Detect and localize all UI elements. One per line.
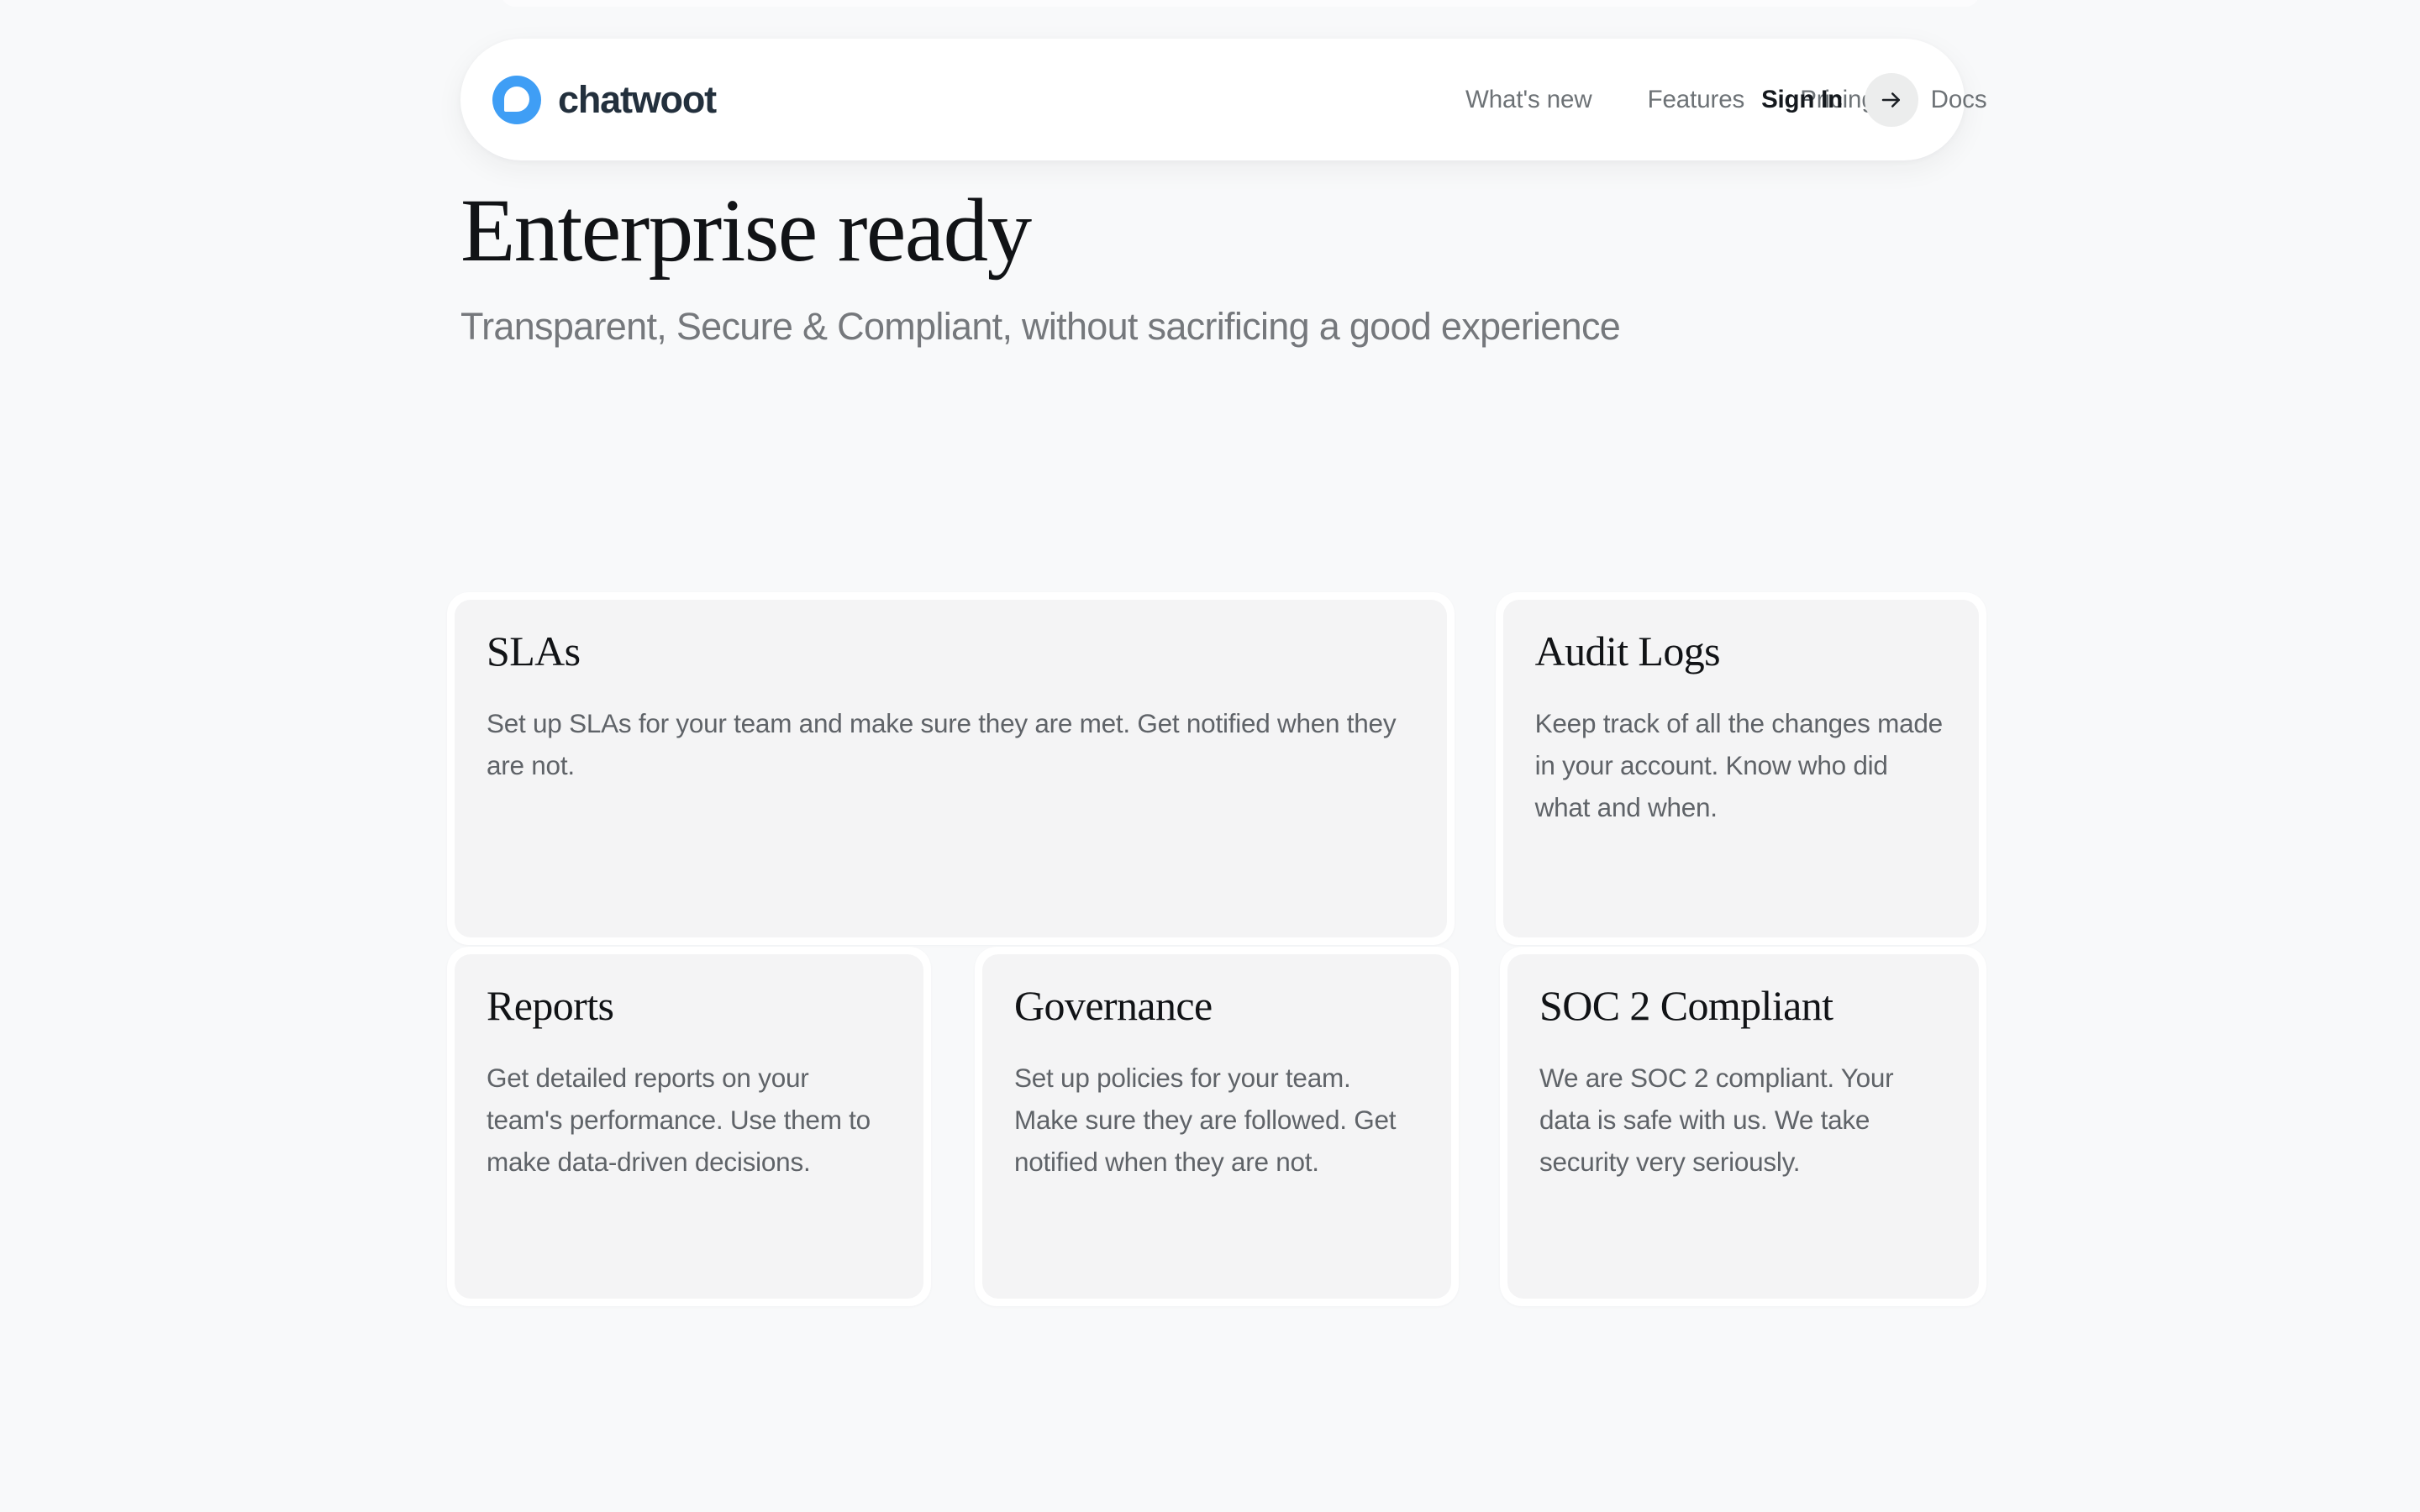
- sign-in-button[interactable]: Sign In: [1761, 86, 1843, 114]
- feature-card-governance[interactable]: Governance Set up policies for your team…: [975, 947, 1459, 1306]
- landing-page: chatwoot What's new Features Pricing Doc…: [0, 0, 2420, 1512]
- feature-card-row-two: Reports Get detailed reports on your tea…: [447, 947, 1986, 1306]
- feature-card-soc2-compliant[interactable]: SOC 2 Compliant We are SOC 2 compliant. …: [1500, 947, 1986, 1306]
- brand-link-chatwoot[interactable]: chatwoot: [492, 76, 716, 124]
- card-description: Keep track of all the changes made in yo…: [1535, 703, 1947, 828]
- brand-name-label: chatwoot: [558, 81, 716, 118]
- hero-section: Enterprise ready Transparent, Secure & C…: [460, 183, 1973, 352]
- card-description: Set up SLAs for your team and make sure …: [487, 703, 1415, 787]
- stacked-panel-sliver: [501, 0, 1980, 7]
- card-title: SOC 2 Compliant: [1539, 982, 1947, 1029]
- card-body: Governance Set up policies for your team…: [982, 954, 1451, 1299]
- chatwoot-bubble-logo-icon: [492, 76, 541, 124]
- feature-card-audit-logs[interactable]: Audit Logs Keep track of all the changes…: [1496, 592, 1986, 945]
- card-body: SOC 2 Compliant We are SOC 2 compliant. …: [1507, 954, 1979, 1299]
- nav-item-docs[interactable]: Docs: [1931, 86, 1987, 114]
- card-title: Audit Logs: [1535, 627, 1947, 675]
- nav-item-features[interactable]: Features: [1648, 86, 1745, 114]
- page-title: Enterprise ready: [460, 183, 1973, 281]
- feature-card-reports[interactable]: Reports Get detailed reports on your tea…: [447, 947, 931, 1306]
- page-subtitle: Transparent, Secure & Compliant, without…: [460, 301, 1889, 352]
- feature-card-row-one: SLAs Set up SLAs for your team and make …: [447, 592, 1986, 945]
- card-body: Reports Get detailed reports on your tea…: [455, 954, 923, 1299]
- navbar-actions: Sign In: [1761, 73, 1918, 127]
- card-body: Audit Logs Keep track of all the changes…: [1503, 600, 1979, 937]
- primary-navbar: chatwoot What's new Features Pricing Doc…: [460, 39, 1965, 160]
- arrow-right-icon: [1879, 87, 1904, 113]
- card-description: Set up policies for your team. Make sure…: [1014, 1058, 1419, 1183]
- card-title: Governance: [1014, 982, 1419, 1029]
- card-description: We are SOC 2 compliant. Your data is saf…: [1539, 1058, 1947, 1183]
- sign-in-arrow-button[interactable]: [1865, 73, 1918, 127]
- feature-card-slas[interactable]: SLAs Set up SLAs for your team and make …: [447, 592, 1455, 945]
- card-title: SLAs: [487, 627, 1415, 675]
- card-body: SLAs Set up SLAs for your team and make …: [455, 600, 1447, 937]
- card-title: Reports: [487, 982, 892, 1029]
- feature-card-grid: SLAs Set up SLAs for your team and make …: [447, 592, 1986, 1306]
- card-description: Get detailed reports on your team's perf…: [487, 1058, 892, 1183]
- nav-item-whats-new[interactable]: What's new: [1465, 86, 1592, 114]
